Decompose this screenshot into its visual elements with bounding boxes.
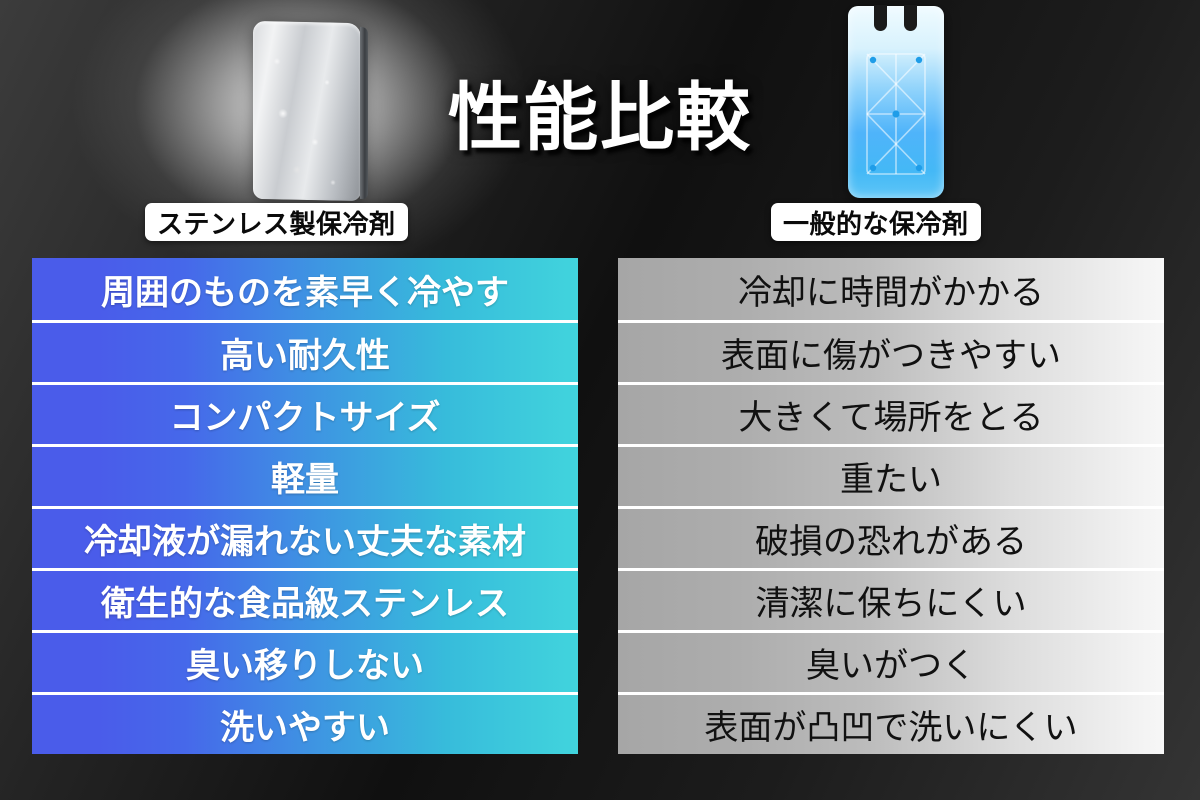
table-row: 表面が凸凹で洗いにくい xyxy=(618,692,1164,754)
ice-pack-notch-left xyxy=(874,5,887,31)
ice-pack-notch-right xyxy=(904,5,917,31)
table-row: 臭い移りしない xyxy=(32,630,578,692)
comparison-poster: 性能比較 ステンレス製保冷剤 一般的な保冷剤 周囲のものを素早く冷やす 高い耐久… xyxy=(0,0,1200,800)
table-row: 冷却液が漏れない丈夫な素材 xyxy=(32,506,578,568)
table-row: 重たい xyxy=(618,444,1164,506)
table-row: 高い耐久性 xyxy=(32,320,578,382)
table-row: 臭いがつく xyxy=(618,630,1164,692)
table-row: 大きくて場所をとる xyxy=(618,382,1164,444)
page-title: 性能比較 xyxy=(0,58,1200,165)
feature-table-stainless: 周囲のものを素早く冷やす 高い耐久性 コンパクトサイズ 軽量 冷却液が漏れない丈… xyxy=(32,258,578,754)
feature-table-general: 冷却に時間がかかる 表面に傷がつきやすい 大きくて場所をとる 重たい 破損の恐れ… xyxy=(618,258,1164,754)
table-row: 破損の恐れがある xyxy=(618,506,1164,568)
column-header-general: 一般的な保冷剤 xyxy=(771,203,981,241)
column-header-stainless: ステンレス製保冷剤 xyxy=(145,203,408,241)
table-row: 冷却に時間がかかる xyxy=(618,258,1164,320)
table-row: 衛生的な食品級ステンレス xyxy=(32,568,578,630)
table-row: 清潔に保ちにくい xyxy=(618,568,1164,630)
table-row: 周囲のものを素早く冷やす xyxy=(32,258,578,320)
table-row: コンパクトサイズ xyxy=(32,382,578,444)
table-row: 表面に傷がつきやすい xyxy=(618,320,1164,382)
table-row: 洗いやすい xyxy=(32,692,578,754)
table-row: 軽量 xyxy=(32,444,578,506)
